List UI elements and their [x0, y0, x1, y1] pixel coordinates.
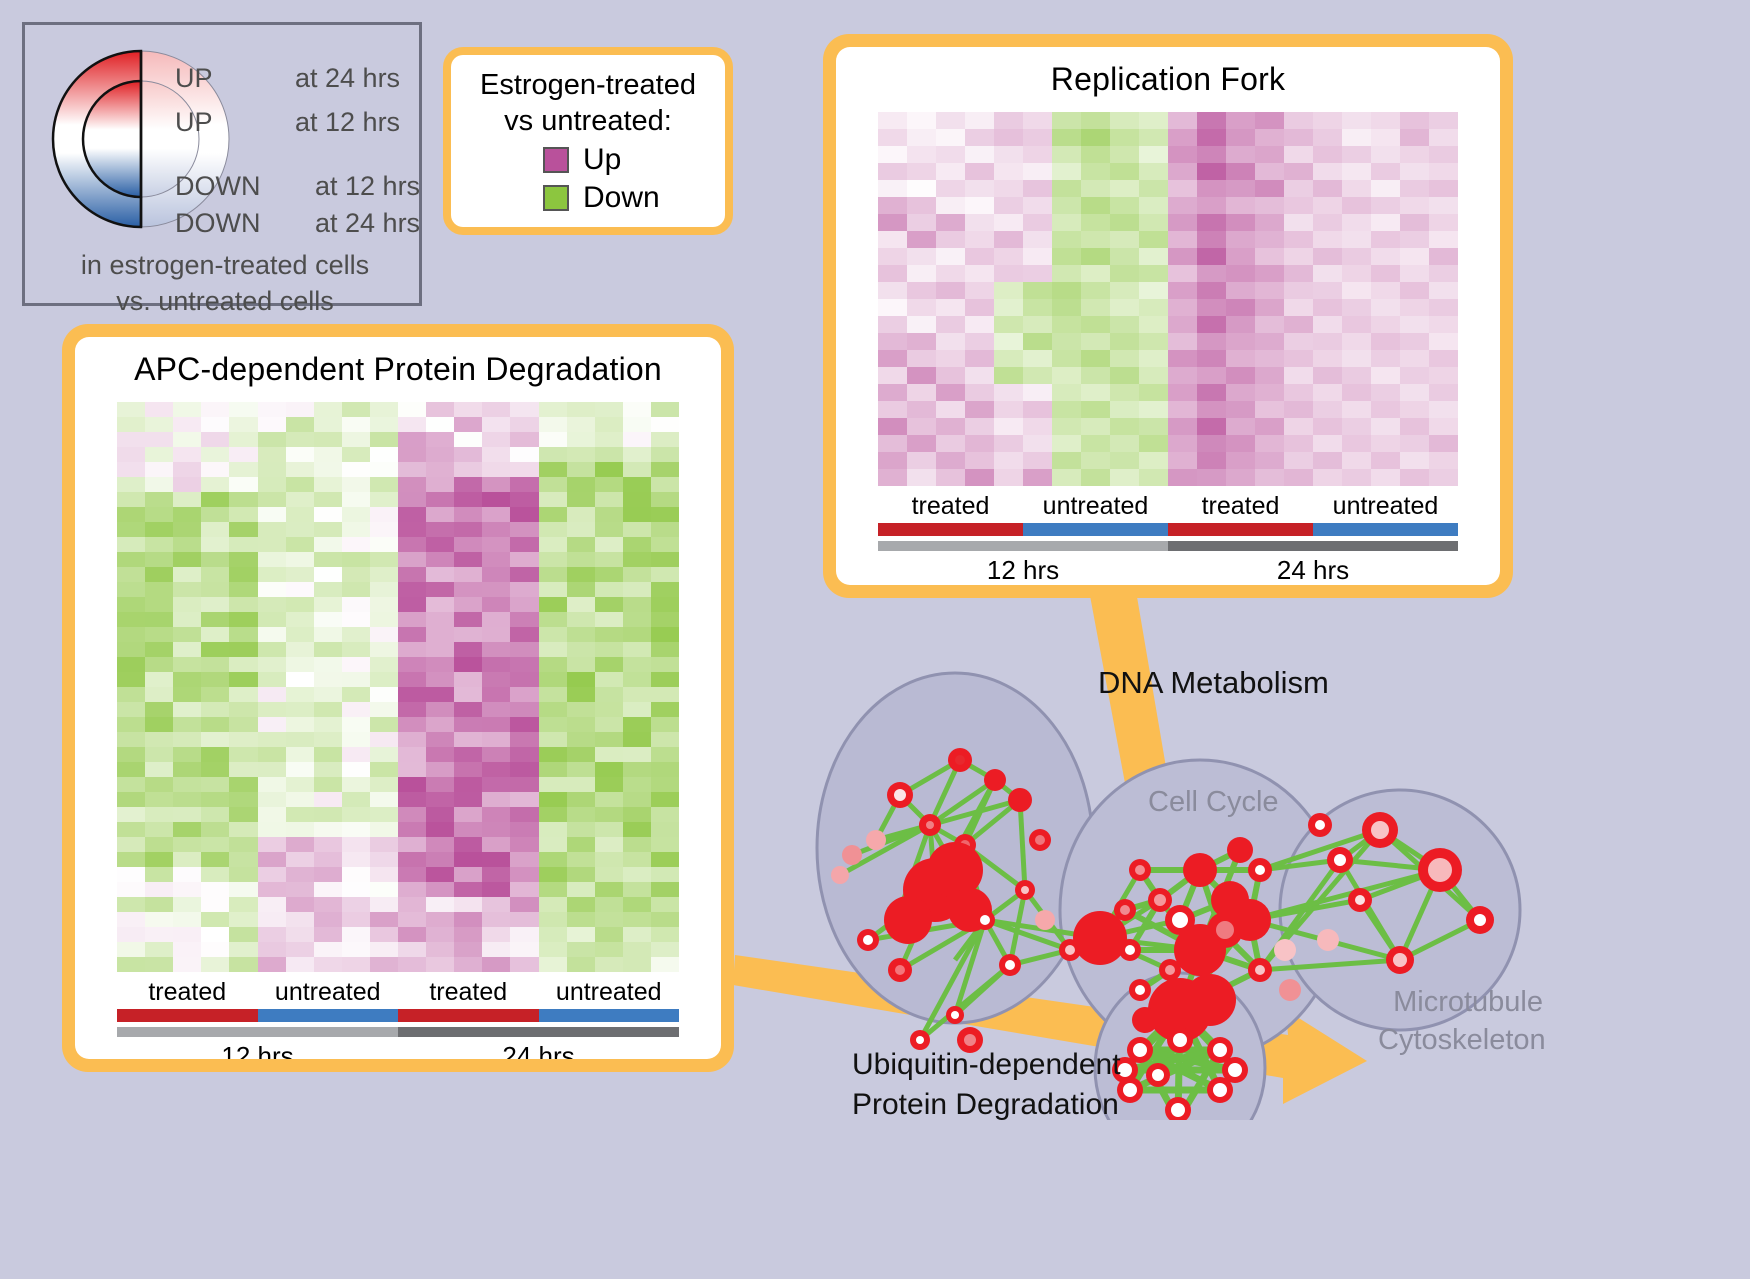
legend-item-up: Up: [543, 143, 725, 177]
legend-label-down: Down: [583, 181, 660, 215]
cluster-label-microtubule-cytoskeleton: Microtubule Cytoskeleton: [1378, 983, 1543, 1059]
figure-canvas: UP at 24 hrs UP at 12 hrs DOWN at 12 hrs…: [0, 0, 1750, 1279]
wheel-time-24b: at 24 hrs: [315, 208, 420, 239]
colorwheel-legend-box: UP at 24 hrs UP at 12 hrs DOWN at 12 hrs…: [22, 22, 422, 306]
up-swatch-icon: [543, 147, 569, 173]
heatmap-apc: [117, 402, 679, 972]
cond-bar-rf-treated-12: [878, 523, 1023, 536]
cluster-label-microtubule-line1: Microtubule: [1378, 983, 1543, 1021]
cond-label-rf-0: treated: [878, 492, 1023, 521]
wheel-label-down-12: DOWN: [175, 171, 260, 202]
cond-bar-apc-treated-24: [398, 1009, 539, 1022]
cond-bar-apc-untreated-24: [539, 1009, 680, 1022]
timepoint-bar-rf: [878, 541, 1458, 551]
cond-bar-rf-untreated-12: [1023, 523, 1168, 536]
wheel-label-down-24: DOWN: [175, 208, 260, 239]
wheel-caption: in estrogen-treated cells vs. untreated …: [25, 247, 425, 319]
cond-label-apc-1: untreated: [258, 978, 399, 1007]
condition-bar-rf: [878, 523, 1458, 536]
down-swatch-icon: [543, 185, 569, 211]
wheel-caption-line2: vs. untreated cells: [25, 283, 425, 319]
estrogen-legend-title-line1: Estrogen-treated: [451, 67, 725, 103]
cond-bar-apc-treated-12: [117, 1009, 258, 1022]
cond-bar-apc-untreated-12: [258, 1009, 399, 1022]
time-label-apc-24: 24 hrs: [398, 1037, 679, 1059]
panel-title-replication-fork: Replication Fork: [836, 47, 1500, 98]
cluster-label-ubiquitin-line2: Protein Degradation: [852, 1085, 1121, 1125]
heatmap-footer-replication-fork: treated untreated treated untreated: [878, 492, 1458, 585]
time-label-rf-24: 24 hrs: [1168, 551, 1458, 585]
cluster-label-ubiquitin-line1: Ubiquitin-dependent: [852, 1045, 1121, 1085]
wheel-label-up-24: UP: [175, 63, 213, 94]
cluster-label-cell-cycle: Cell Cycle: [1148, 786, 1279, 819]
timepoint-labels-apc: 12 hrs 24 hrs: [117, 1037, 679, 1059]
cond-label-rf-2: treated: [1168, 492, 1313, 521]
panel-apc-dependent-protein-degradation: APC-dependent Protein Degradation treate…: [62, 324, 734, 1072]
legend-item-down: Down: [543, 181, 725, 215]
cond-bar-rf-treated-24: [1168, 523, 1313, 536]
time-bar-apc-24: [398, 1027, 679, 1037]
cluster-label-dna-metabolism: DNA Metabolism: [1098, 665, 1329, 701]
cond-label-apc-2: treated: [398, 978, 539, 1007]
condition-bar-apc: [117, 1009, 679, 1022]
cluster-label-microtubule-line2: Cytoskeleton: [1378, 1021, 1543, 1059]
cond-label-apc-3: untreated: [539, 978, 680, 1007]
heatmap-replication-fork: [878, 112, 1458, 486]
wheel-time-12a: at 12 hrs: [295, 107, 400, 138]
wheel-label-up-12: UP: [175, 107, 213, 138]
timepoint-labels-rf: 12 hrs 24 hrs: [878, 551, 1458, 585]
cond-label-rf-1: untreated: [1023, 492, 1168, 521]
cond-label-rf-3: untreated: [1313, 492, 1458, 521]
time-bar-apc-12: [117, 1027, 398, 1037]
time-label-rf-12: 12 hrs: [878, 551, 1168, 585]
estrogen-legend-card: Estrogen-treated vs untreated: Up Down: [443, 47, 733, 235]
panel-replication-fork: Replication Fork treated untreated treat…: [823, 34, 1513, 598]
wheel-caption-line1: in estrogen-treated cells: [25, 247, 425, 283]
estrogen-legend-title-line2: vs untreated:: [451, 103, 725, 139]
cond-label-apc-0: treated: [117, 978, 258, 1007]
time-bar-rf-24: [1168, 541, 1458, 551]
heatmap-footer-apc: treated untreated treated untreated: [117, 978, 679, 1059]
timepoint-bar-apc: [117, 1027, 679, 1037]
cluster-label-ubiquitin-dependent: Ubiquitin-dependent Protein Degradation: [852, 1045, 1121, 1125]
panel-title-apc: APC-dependent Protein Degradation: [75, 337, 721, 388]
wheel-time-12b: at 12 hrs: [315, 171, 420, 202]
time-bar-rf-12: [878, 541, 1168, 551]
cond-bar-rf-untreated-24: [1313, 523, 1458, 536]
time-label-apc-12: 12 hrs: [117, 1037, 398, 1059]
legend-label-up: Up: [583, 143, 621, 177]
wheel-time-24a: at 24 hrs: [295, 63, 400, 94]
